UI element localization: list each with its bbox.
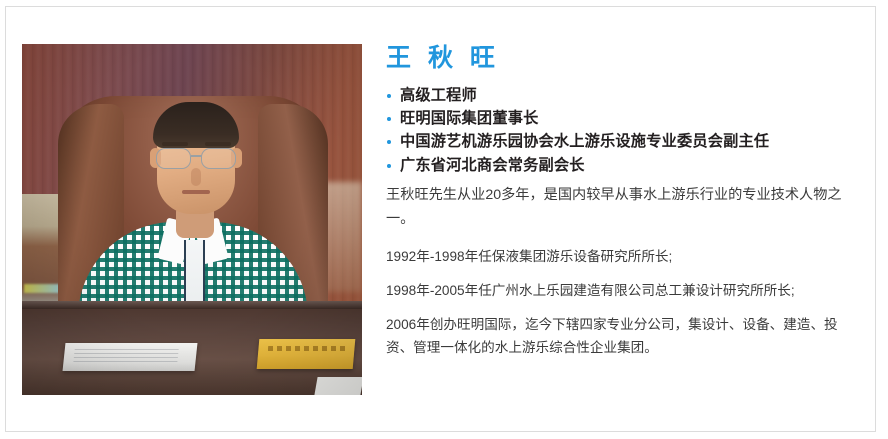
- photo-desk-notebook-lines: [73, 349, 178, 363]
- photo-desk-paper: [314, 377, 362, 395]
- photo-desk-edge: [22, 301, 362, 309]
- photo-person-nose: [191, 168, 201, 186]
- portrait-photo: [22, 44, 362, 395]
- bullet-dot-icon: [387, 164, 391, 168]
- credential-label: 高级工程师: [400, 87, 477, 104]
- credential-label: 中国游艺机游乐园协会水上游乐设施专业委员会副主任: [400, 133, 769, 150]
- photo-person-mouth: [182, 190, 210, 194]
- photo-person-eyebrow-left: [162, 142, 188, 146]
- person-name: 王 秋 旺: [386, 44, 862, 73]
- credential-item: 中国游艺机游乐园协会水上游乐设施专业委员会副主任: [386, 130, 862, 153]
- photo-person-glasses: [153, 148, 239, 168]
- career-entry: 2006年创办旺明国际，迄今下辖四家专业分公司，集设计、设备、建造、投资、管理一…: [386, 313, 862, 359]
- career-entry: 1992年-1998年任保液集团游乐设备研究所所长;: [386, 245, 862, 268]
- profile-card: 王 秋 旺 高级工程师 旺明国际集团董事长 中国游艺机游乐园协会水上游乐设施专业…: [5, 6, 876, 432]
- credential-item: 广东省河北商会常务副会长: [386, 154, 862, 177]
- glasses-lens-left: [156, 148, 191, 169]
- bio-summary: 王秋旺先生从业20多年，是国内较早从事水上游乐行业的专业技术人物之一。: [386, 183, 856, 232]
- bullet-dot-icon: [387, 94, 391, 98]
- photo-desk-yellow-book-text: [268, 346, 348, 351]
- bullet-dot-icon: [387, 117, 391, 121]
- glasses-lens-right: [201, 148, 236, 169]
- photo-person-eyebrow-right: [205, 142, 231, 146]
- credentials-list: 高级工程师 旺明国际集团董事长 中国游艺机游乐园协会水上游乐设施专业委员会副主任…: [386, 84, 862, 177]
- bullet-dot-icon: [387, 140, 391, 144]
- career-entry: 1998年-2005年任广州水上乐园建造有限公司总工兼设计研究所所长;: [386, 279, 862, 302]
- credential-label: 广东省河北商会常务副会长: [400, 157, 585, 174]
- credential-item: 高级工程师: [386, 84, 862, 107]
- credential-label: 旺明国际集团董事长: [400, 110, 539, 127]
- profile-info-column: 王 秋 旺 高级工程师 旺明国际集团董事长 中国游艺机游乐园协会水上游乐设施专业…: [386, 44, 862, 359]
- career-history: 1992年-1998年任保液集团游乐设备研究所所长; 1998年-2005年任广…: [386, 245, 862, 359]
- photo-desk-yellow-book: [257, 339, 356, 369]
- credential-item: 旺明国际集团董事长: [386, 107, 862, 130]
